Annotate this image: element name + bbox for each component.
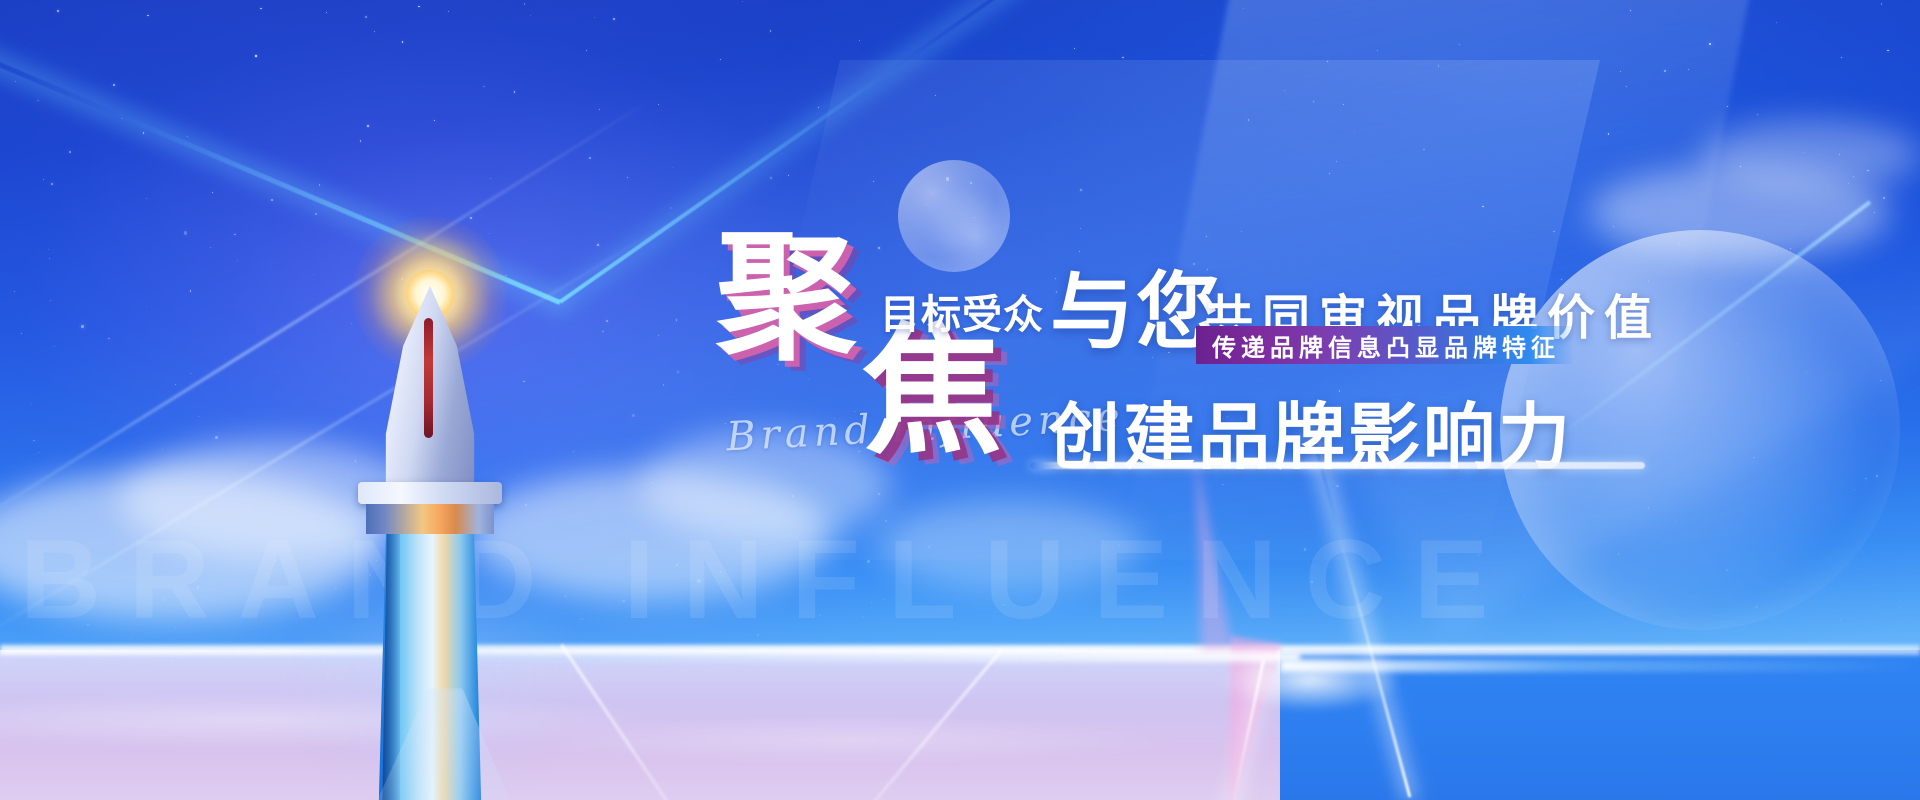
brand-banner: BRAND INFLUENCE Brand influence 聚 焦 目标受众…: [0, 0, 1920, 800]
focus-char-jiao: 焦: [862, 322, 1002, 462]
headline-copy-block: Brand influence 聚 焦 目标受众 与您 共同审视品牌价值 传递品…: [0, 0, 1920, 800]
ribbon-bar: 传递品牌信息凸显品牌特征: [1196, 326, 1574, 364]
headline-divider: [1030, 462, 1645, 469]
ribbon-text: 传递品牌信息凸显品牌特征: [1212, 328, 1560, 363]
focus-char-ju: 聚: [716, 228, 856, 368]
audience-label: 目标受众: [880, 282, 1044, 340]
